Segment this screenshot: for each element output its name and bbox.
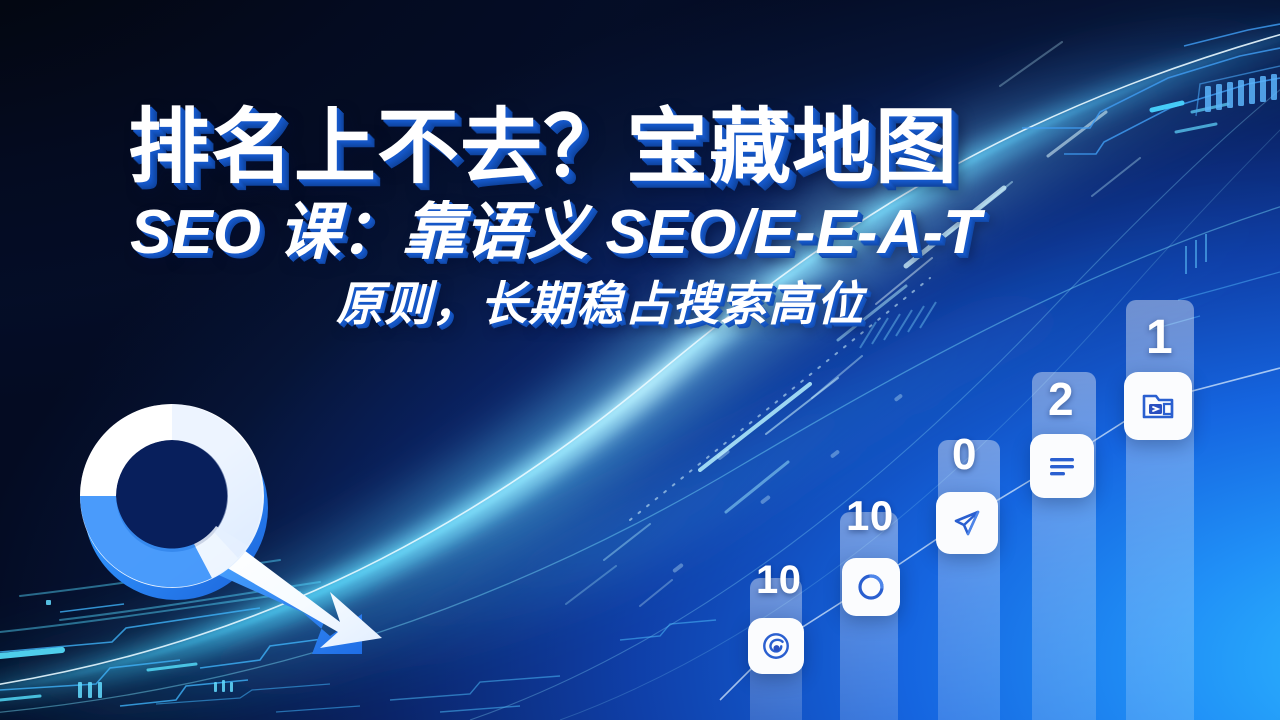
text-lines-icon <box>1045 449 1079 483</box>
icon-card-4[interactable] <box>1030 434 1094 498</box>
bar-value-1: 10 <box>756 558 802 603</box>
headline-line-3: 原则，长期稳占搜索高位 <box>0 279 1180 328</box>
bar-value-2: 10 <box>846 492 894 540</box>
headline-block: 排名上不去？宝藏地图 SEO 课：靠语义 SEO/E-E-A-T 原则，长期稳占… <box>0 106 1180 328</box>
icon-card-3[interactable] <box>936 492 998 554</box>
spiral-target-icon <box>761 631 791 661</box>
bar-value-5: 1 <box>1146 310 1173 365</box>
folder-share-icon <box>1139 387 1177 425</box>
icon-card-2[interactable] <box>842 558 900 616</box>
circle-ring-icon <box>855 571 887 603</box>
paper-plane-icon <box>950 506 984 540</box>
magnifying-glass-with-down-arrow-icon <box>62 386 402 686</box>
icon-card-5[interactable] <box>1124 372 1192 440</box>
bar-value-4: 2 <box>1048 372 1074 426</box>
headline-line-1: 排名上不去？宝藏地图 <box>0 106 1180 190</box>
icon-card-1[interactable] <box>748 618 804 674</box>
cover-banner: 排名上不去？宝藏地图 SEO 课：靠语义 SEO/E-E-A-T 原则，长期稳占… <box>0 0 1280 720</box>
headline-line-2: SEO 课：靠语义 SEO/E-E-A-T <box>0 200 1180 265</box>
bar-value-3: 0 <box>952 430 977 480</box>
